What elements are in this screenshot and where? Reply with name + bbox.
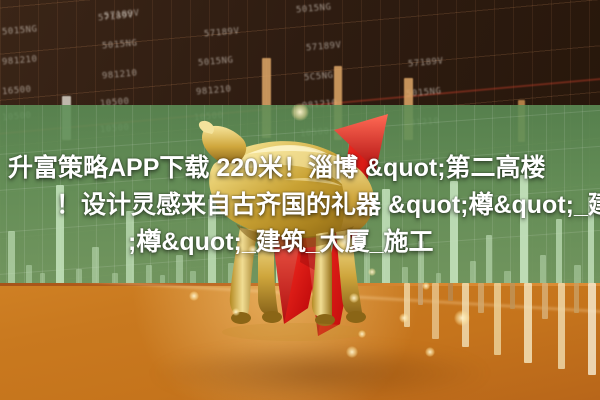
floor-overlay-bar (510, 283, 515, 309)
green-chart-bar (146, 265, 152, 285)
floor-overlay-bar (558, 283, 565, 369)
headline-line-3: ;樽&quot;_建筑_大厦_施工 (0, 224, 600, 261)
floor-overlay-bar (542, 283, 548, 319)
floor-overlay-bar (462, 283, 469, 347)
green-chart-bar (470, 261, 476, 285)
headline-text: 升富策略APP下载 220米！淄博 &quot;第二高楼 ！设计灵感来自古齐国的… (0, 150, 600, 261)
floor-overlay-bar (448, 283, 453, 301)
floor-overlay-bar (494, 283, 501, 355)
floor-overlay-bar (574, 283, 579, 313)
floor-overlay-bar (478, 283, 484, 313)
green-chart-bar (574, 265, 581, 285)
headline-line-2: ！设计灵感来自古齐国的礼器 &quot;樽&quot;_建筑 (0, 187, 600, 224)
headline-line-1: 升富策略APP下载 220米！淄博 &quot;第二高楼 (0, 150, 600, 187)
floor-overlay-bar (418, 283, 423, 305)
floor-overlay-bar (588, 283, 596, 375)
green-chart-bar (26, 265, 32, 285)
floor-overlay-bar (524, 283, 532, 363)
floor-overlay-bar (404, 283, 410, 327)
floor-overlay-bar (432, 283, 439, 339)
banner-image: 57189V5015NG5015NG57189V9812105015NG5718… (0, 0, 600, 400)
